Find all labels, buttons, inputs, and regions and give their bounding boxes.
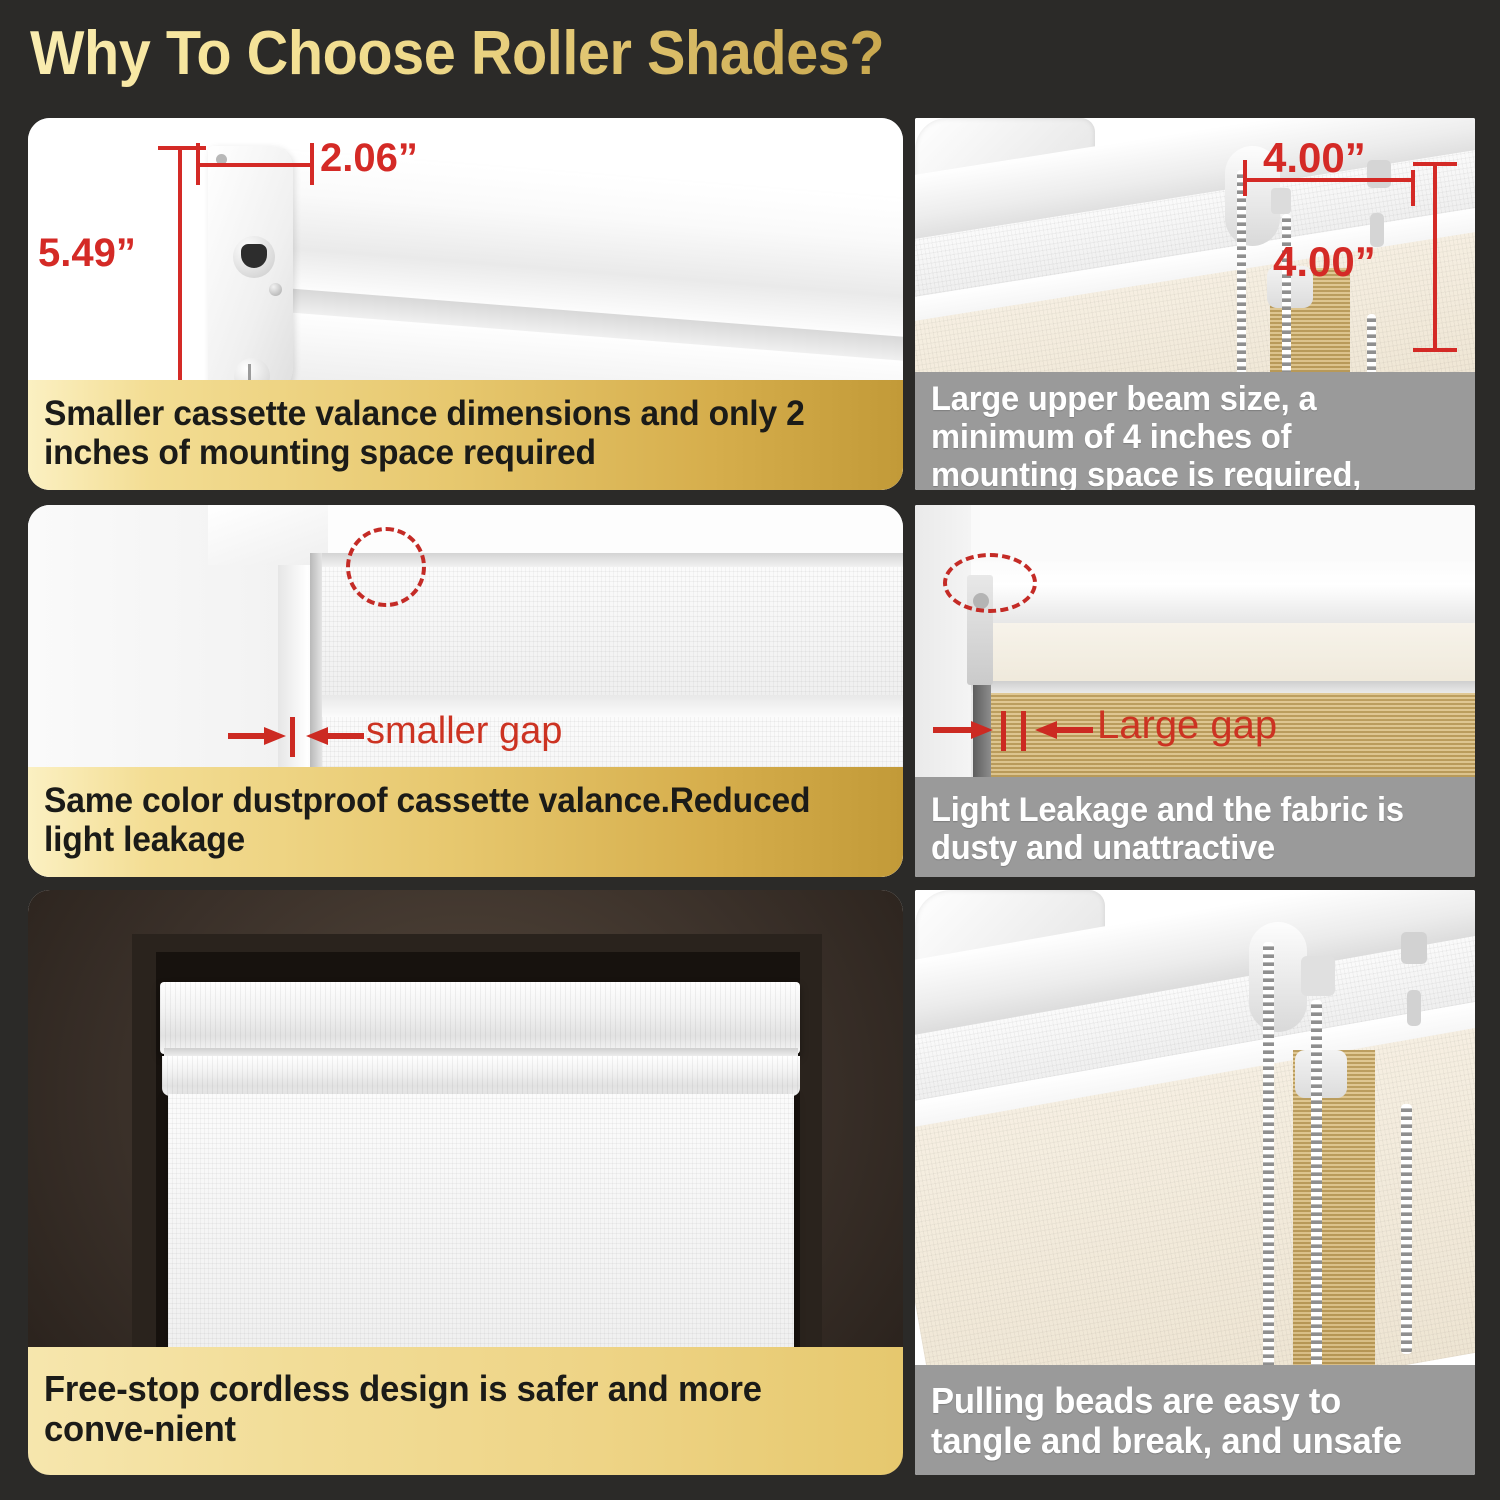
caption-text: Large upper beam size, a minimum of 4 in… (931, 380, 1438, 490)
width-dimension-line (196, 163, 314, 167)
infographic-root: Why To Choose Roller Shades? 2.06” (0, 0, 1500, 1500)
height-dimension-line (178, 146, 182, 411)
caption-text: Same color dustproof cassette valance.Re… (44, 781, 853, 859)
beam-height-label: 4.00” (1273, 238, 1376, 286)
width-dimension-tick-right (310, 143, 314, 185)
beam-height-tick-top (1413, 162, 1457, 166)
height-dimension-label: 5.49” (38, 231, 136, 276)
beam-width-label: 4.00” (1263, 134, 1366, 182)
panel-pro-cordless-design: Free-stop cordless design is safer and m… (28, 890, 903, 1475)
panel-pro-cassette-dimensions: 2.06” 5.49” Smaller cassette valance dim… (28, 118, 903, 490)
gap-callout-label: smaller gap (366, 710, 562, 753)
bead-chain-right (1401, 1104, 1412, 1354)
gap-arrow-left-pointing-icon (304, 723, 364, 749)
caption-pro-dustproof-valance: Same color dustproof cassette valance.Re… (28, 767, 903, 877)
caption-con-upper-beam-size: Large upper beam size, a minimum of 4 in… (915, 372, 1475, 490)
gap-arrow-left-pointing-icon (1033, 717, 1093, 743)
highlight-circle (943, 553, 1037, 613)
page-title: Why To Choose Roller Shades? (30, 18, 884, 89)
beam-height-dimension-line (1433, 162, 1437, 352)
beam-height-tick-bottom (1413, 348, 1457, 352)
panel-pro-dustproof-valance: smaller gap Same color dustproof cassett… (28, 505, 903, 877)
caption-text: Light Leakage and the fabric is dusty an… (931, 791, 1438, 867)
caption-pro-cordless-design: Free-stop cordless design is safer and m… (28, 1347, 903, 1475)
highlight-circle (346, 527, 426, 607)
height-dimension-tick-top (158, 146, 206, 150)
caption-pro-cassette-dimensions: Smaller cassette valance dimensions and … (28, 380, 903, 490)
gap-arrow-right-pointing-icon (933, 717, 995, 743)
width-dimension-label: 2.06” (320, 136, 418, 181)
beam-width-tick-right (1411, 170, 1415, 206)
panel-con-upper-beam-size: 4.00” 4.00” Large upper beam size, a min… (915, 118, 1475, 490)
panel-con-pulling-beads: Pulling beads are easy to tangle and bre… (915, 890, 1475, 1475)
caption-text: Pulling beads are easy to tangle and bre… (931, 1381, 1438, 1462)
caption-text: Smaller cassette valance dimensions and … (44, 394, 853, 472)
caption-con-light-leakage: Light Leakage and the fabric is dusty an… (915, 777, 1475, 877)
panel-con-light-leakage: Large gap Light Leakage and the fabric i… (915, 505, 1475, 877)
beam-width-tick-left (1243, 160, 1247, 196)
caption-text: Free-stop cordless design is safer and m… (44, 1369, 853, 1450)
caption-con-pulling-beads: Pulling beads are easy to tangle and bre… (915, 1365, 1475, 1475)
gap-arrow-right-pointing-icon (228, 723, 288, 749)
gap-callout-label: Large gap (1097, 703, 1277, 748)
